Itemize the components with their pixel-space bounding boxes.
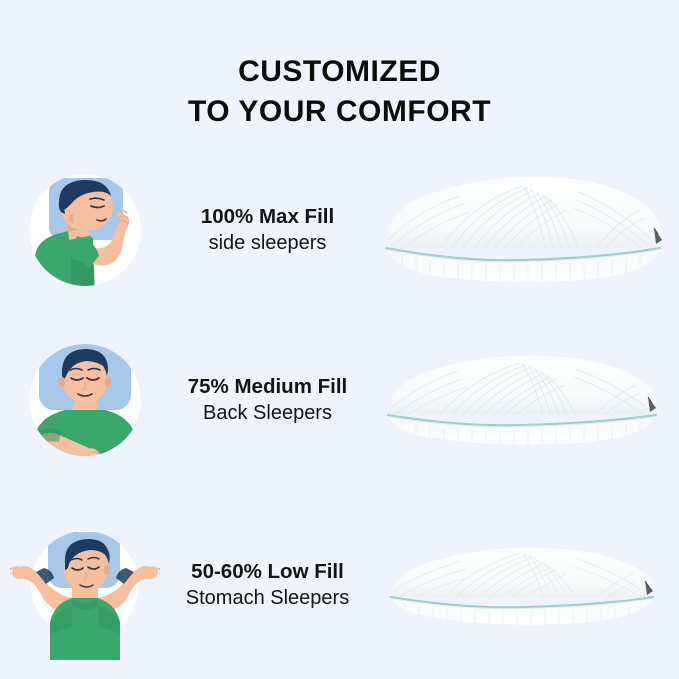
side-sleeper-illustration xyxy=(15,160,155,300)
sleeper-type-label: side sleepers xyxy=(170,230,365,257)
max-fill-pillow-cell xyxy=(365,145,679,315)
page-title-line-2: TO YOUR COMFORT xyxy=(0,92,679,132)
side-sleeper-illustration-cell xyxy=(0,145,170,315)
stomach-sleeper-text-cell: 50-60% Low Fill Stomach Sleepers xyxy=(170,558,365,613)
back-sleeper-illustration-cell xyxy=(0,315,170,485)
fill-level-label: 100% Max Fill xyxy=(170,203,365,231)
back-sleeper-text-cell: 75% Medium Fill Back Sleepers xyxy=(170,373,365,428)
fill-level-label: 50-60% Low Fill xyxy=(170,558,365,586)
page-title: CUSTOMIZED TO YOUR COMFORT xyxy=(0,52,679,131)
low-fill-pillow-cell xyxy=(365,500,679,670)
comfort-row-back-sleeper: 75% Medium Fill Back Sleepers xyxy=(0,315,679,485)
side-sleeper-text-cell: 100% Max Fill side sleepers xyxy=(170,203,365,258)
sleeper-type-label: Stomach Sleepers xyxy=(170,585,365,612)
stomach-sleeper-illustration xyxy=(10,510,160,660)
pillow-comfort-infographic: CUSTOMIZED TO YOUR COMFORT xyxy=(0,0,679,679)
page-title-line-1: CUSTOMIZED xyxy=(0,52,679,92)
max-fill-pillow xyxy=(372,170,672,290)
sleeper-type-label: Back Sleepers xyxy=(170,400,365,427)
comfort-row-side-sleeper: 100% Max Fill side sleepers xyxy=(0,145,679,315)
back-sleeper-illustration xyxy=(15,330,155,470)
fill-level-label: 75% Medium Fill xyxy=(170,373,365,401)
comfort-row-stomach-sleeper: 50-60% Low Fill Stomach Sleepers xyxy=(0,500,679,670)
low-fill-pillow xyxy=(377,535,667,635)
medium-fill-pillow xyxy=(372,345,672,455)
medium-fill-pillow-cell xyxy=(365,315,679,485)
stomach-sleeper-illustration-cell xyxy=(0,500,170,670)
